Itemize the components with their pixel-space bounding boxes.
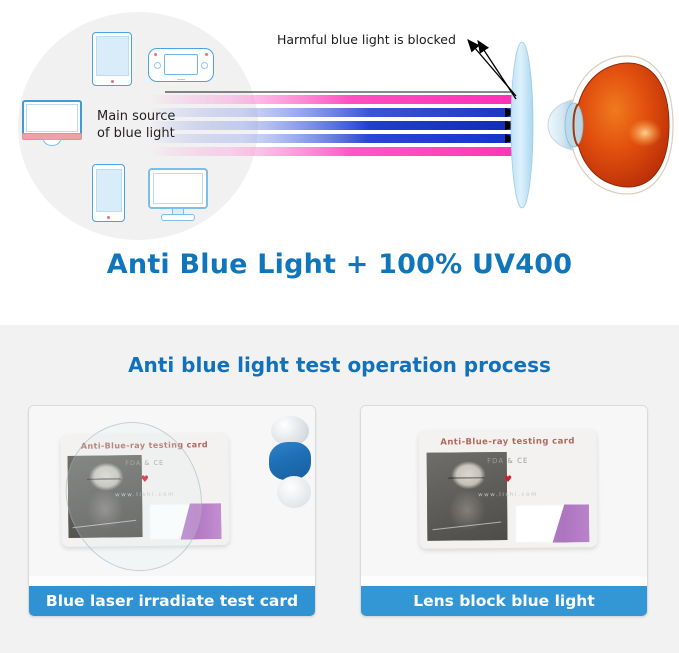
- blocked-reflection-arrows: [468, 40, 516, 99]
- panel-lens-block-blue-light[interactable]: Anti-Blue-ray testing card FDA & CE ♥ ww…: [360, 405, 648, 617]
- harmful-blue-light-blocked-label: Harmful blue light is blocked: [277, 32, 456, 47]
- blue-laser-pointer: [269, 416, 313, 512]
- test-card: Anti-Blue-ray testing card FDA & CE ♥ ww…: [418, 429, 597, 549]
- laser-body: [269, 442, 311, 480]
- portrait-signature: [432, 521, 500, 530]
- test-card: Anti-Blue-ray testing card FDA & CE ♥ ww…: [60, 433, 229, 547]
- ray-bundle: [150, 92, 516, 156]
- panel-right-photo: Anti-Blue-ray testing card FDA & CE ♥ ww…: [361, 406, 647, 576]
- panel-caption: Blue laser irradiate test card: [29, 586, 315, 616]
- card-title: Anti-Blue-ray testing card: [419, 436, 597, 448]
- eye-cross-section: [548, 56, 673, 194]
- panel-left-photo: Anti-Blue-ray testing card FDA & CE ♥ ww…: [29, 406, 315, 576]
- ray-blue-2: [150, 121, 515, 130]
- card-website-label: www.lishi.com: [478, 492, 538, 499]
- panel-blue-laser-irradiate[interactable]: Anti-Blue-ray testing card FDA & CE ♥ ww…: [28, 405, 316, 617]
- test-process-section: Anti blue light test operation process A…: [0, 325, 679, 653]
- headline-anti-blue-light: Anti Blue Light + 100% UV400: [0, 249, 679, 280]
- blue-light-diagram-section: Main source of blue light: [0, 0, 679, 325]
- card-website-label: www.lishi.com: [115, 492, 175, 499]
- ray-blue-1: [150, 108, 515, 117]
- panel-caption: Lens block blue light: [361, 586, 647, 616]
- card-reaction-patch: [149, 503, 221, 540]
- section-title: Anti blue light test operation process: [0, 353, 679, 377]
- laser-tail: [277, 476, 311, 508]
- card-certification-label: FDA & CE: [125, 459, 164, 467]
- portrait-signature: [73, 520, 136, 528]
- portrait-glasses: [448, 477, 485, 484]
- ray-magenta-bottom: [150, 147, 515, 156]
- heart-icon: ♥: [141, 476, 149, 484]
- portrait-glasses: [87, 478, 121, 485]
- patch-purple-area: [546, 504, 589, 542]
- ray-blue-3: [150, 134, 515, 143]
- test-panels: Anti-Blue-ray testing card FDA & CE ♥ ww…: [0, 405, 679, 640]
- card-title: Anti-Blue-ray testing card: [60, 440, 228, 451]
- heart-icon: ♥: [504, 476, 512, 484]
- patch-purple-area: [177, 503, 222, 540]
- ray-magenta-top: [150, 95, 515, 104]
- card-reaction-patch: [515, 504, 589, 543]
- card-certification-label: FDA & CE: [487, 457, 528, 465]
- eyeglass-lens: [511, 42, 533, 208]
- infographic-page: Main source of blue light: [0, 0, 679, 653]
